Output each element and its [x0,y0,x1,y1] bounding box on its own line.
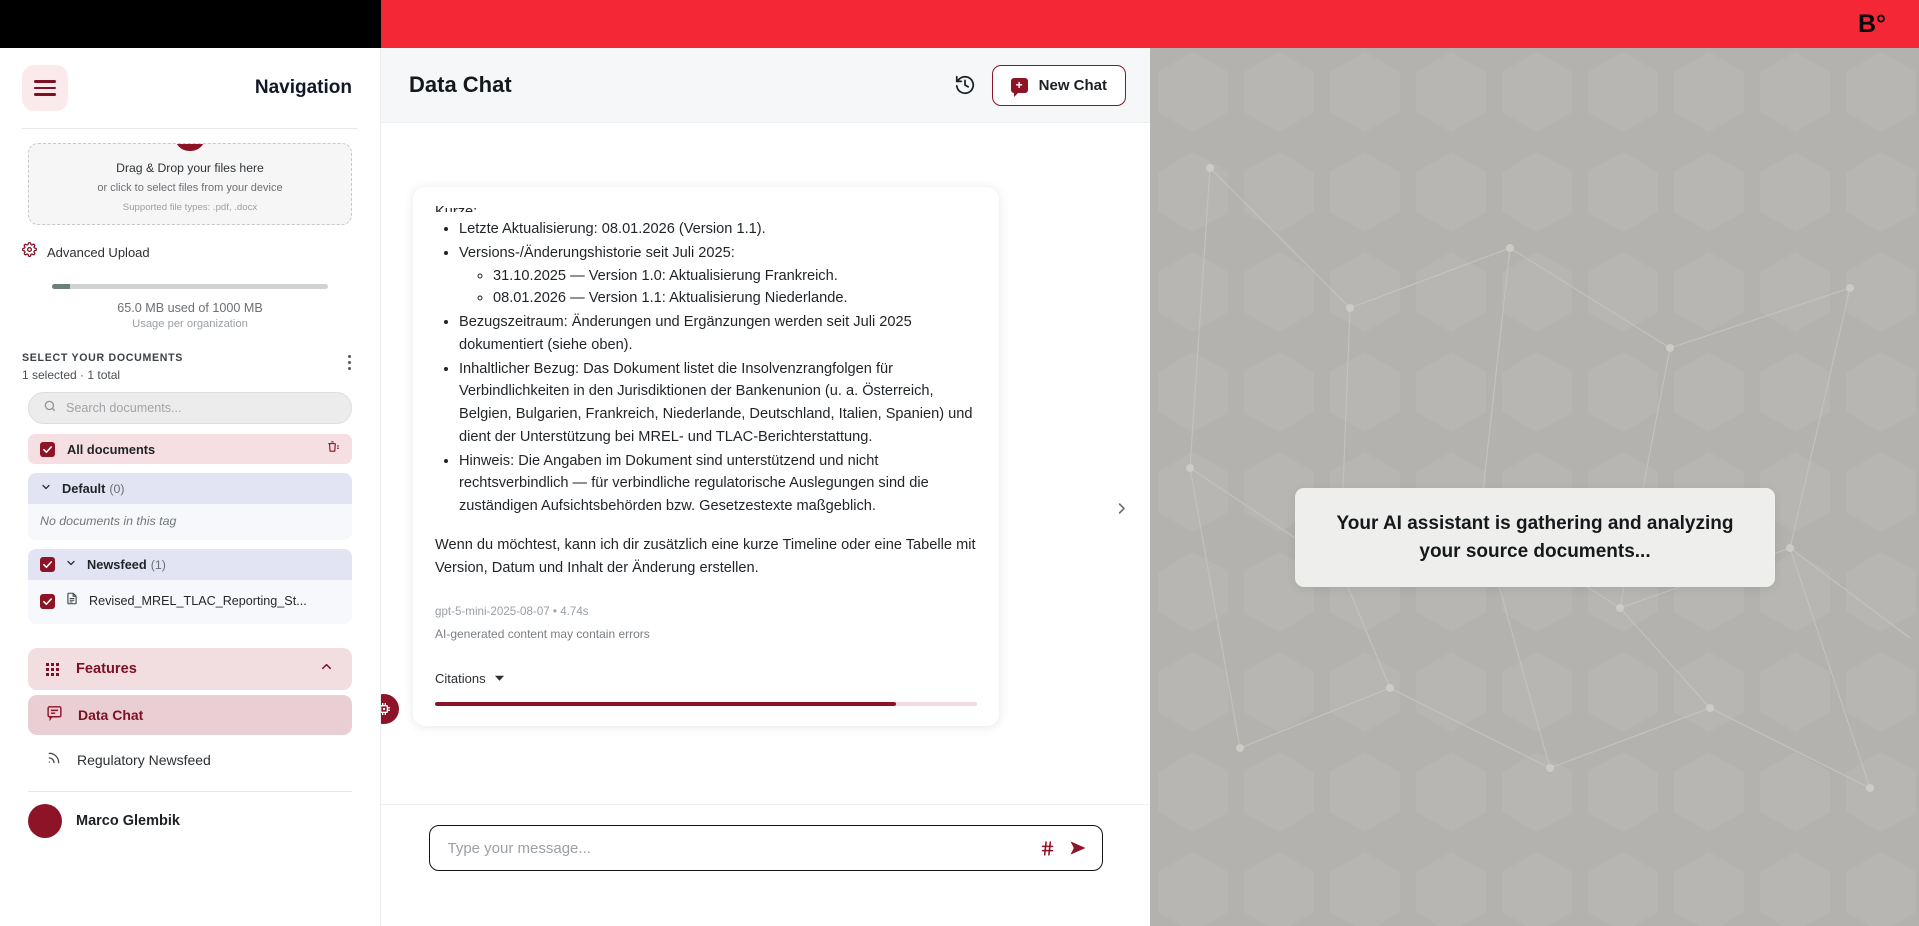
tag-empty-message: No documents in this tag [28,504,352,540]
main-header: Data Chat + New Chat [381,48,1150,123]
tag-group-newsfeed: Newsfeed (1) Revised_MREL_TLAC_Reporting… [28,549,352,624]
send-icon[interactable] [1068,838,1088,858]
tag-header-default[interactable]: Default (0) [28,473,352,504]
new-chat-icon: + [1011,78,1028,93]
composer-container [381,804,1150,926]
topbar-red-segment [381,0,1919,48]
user-name: Marco Glembik [76,813,180,829]
status-line-1: Your AI assistant is gathering and analy… [1337,513,1734,534]
all-documents-checkbox[interactable] [40,442,55,457]
sidebar-item-regulatory-newsfeed[interactable]: Regulatory Newsfeed [28,741,352,779]
gear-icon [22,242,37,262]
usage-progress-fill [52,284,70,289]
bullet-text: Versions-/Änderungshistorie seit Juli 20… [459,245,735,261]
dropzone-title: Drag & Drop your files here [116,161,264,175]
top-brand-bar: B° [0,0,1919,48]
generation-progress-fill [435,702,896,706]
usage-text: 65.0 MB used of 1000 MB [52,301,328,315]
more-options-icon[interactable] [340,352,358,372]
delete-icon[interactable] [326,439,340,459]
chevron-right-icon[interactable] [1110,497,1132,519]
message-bullet-list: Letzte Aktualisierung: 08.01.2026 (Versi… [441,218,977,518]
list-item: Versions-/Änderungshistorie seit Juli 20… [459,242,977,310]
sidebar-item-data-chat[interactable]: Data Chat [28,695,352,735]
features-label: Features [76,661,137,677]
all-documents-row[interactable]: All documents [28,434,352,464]
tag-header-newsfeed[interactable]: Newsfeed (1) [28,549,352,580]
message-sub-list: 31.10.2025 — Version 1.0: Aktualisierung… [475,265,977,311]
bullet-text: Letzte Aktualisierung: 08.01.2026 (Versi… [459,221,766,237]
storage-usage: 65.0 MB used of 1000 MB Usage per organi… [52,284,328,330]
sub-bullet-text: 08.01.2026 — Version 1.1: Aktualisierung… [493,290,848,306]
main-content: Data Chat + New Chat Kurze: Letzte Aktua… [381,48,1150,926]
document-checkbox[interactable] [40,594,55,609]
citations-label: Citations [435,671,486,686]
search-input[interactable] [66,401,337,415]
document-icon [65,591,79,611]
chevron-down-icon [494,669,505,687]
features-section-toggle[interactable]: Features [28,648,352,690]
usage-progress-bar [52,284,328,289]
chevron-up-icon [319,659,334,679]
list-item: Letzte Aktualisierung: 08.01.2026 (Versi… [459,218,977,241]
sidebar-scroll-area: Drag & Drop your files here or click to … [0,129,380,926]
file-dropzone[interactable]: Drag & Drop your files here or click to … [28,143,352,225]
hamburger-icon[interactable] [22,65,68,111]
status-line-2: your source documents... [1419,541,1650,562]
history-icon[interactable] [948,68,982,102]
sidebar-item-label: Data Chat [78,707,143,723]
status-card: Your AI assistant is gathering and analy… [1295,488,1775,587]
tag-count: (1) [151,558,166,572]
tag-name: Newsfeed [87,557,147,572]
topbar-black-segment [0,0,381,48]
message-truncated-line: Kurze: [435,201,977,212]
tag-count: (0) [109,482,124,496]
model-info: gpt-5-mini-2025-08-07 • 4.74s [435,605,977,618]
generation-progress-bar [435,702,977,706]
bullet-text: Bezugszeitraum: Änderungen und Ergänzung… [459,314,912,353]
list-item: 08.01.2026 — Version 1.1: Aktualisierung… [493,287,977,310]
nav-title: Navigation [255,77,352,99]
tag-name: Default [62,481,105,496]
new-chat-label: New Chat [1039,77,1107,94]
list-item: 31.10.2025 — Version 1.0: Aktualisierung… [493,265,977,288]
left-sidebar: Navigation Drag & Drop your files here o… [0,48,381,926]
message-input[interactable] [448,840,1027,857]
chat-scroll-area[interactable]: Kurze: Letzte Aktualisierung: 08.01.2026… [381,123,1150,926]
sidebar-footer-divider [28,791,352,792]
search-icon [43,399,57,418]
dropzone-filetypes: Supported file types: .pdf, .docx [123,202,257,213]
select-documents-title: SELECT YOUR DOCUMENTS [22,352,183,364]
upload-cloud-icon [175,143,205,151]
list-item: Bezugszeitraum: Änderungen und Ergänzung… [459,311,977,357]
rss-icon [46,750,62,771]
citations-toggle[interactable]: Citations [435,669,977,687]
message-composer[interactable] [429,825,1103,871]
dropzone-subtitle: or click to select files from your devic… [97,182,282,194]
cpu-chip-icon [381,694,399,724]
list-item[interactable]: Revised_MREL_TLAC_Reporting_St... [28,580,352,624]
chevron-down-icon [65,556,77,574]
all-documents-label: All documents [67,442,155,457]
right-preview-panel: Your AI assistant is gathering and analy… [1150,48,1919,926]
grid-icon [46,663,59,676]
sidebar-item-label: Regulatory Newsfeed [77,752,211,768]
status-text: Your AI assistant is gathering and analy… [1321,510,1749,565]
bullet-text: Inhaltlicher Bezug: Das Dokument listet … [459,361,973,445]
ai-disclaimer: AI-generated content may contain errors [435,627,977,641]
usage-subtext: Usage per organization [52,318,328,330]
brand-logo: B° [1849,8,1895,40]
list-item: Inhaltlicher Bezug: Das Dokument listet … [459,358,977,449]
search-documents-field[interactable] [28,392,352,424]
avatar [28,804,62,838]
documents-count: 1 selected · 1 total [22,368,183,382]
user-profile-row[interactable]: Marco Glembik [28,804,380,838]
message-outro: Wenn du möchtest, kann ich dir zusätzlic… [435,534,977,580]
select-documents-header: SELECT YOUR DOCUMENTS 1 selected · 1 tot… [22,352,358,382]
advanced-upload-label: Advanced Upload [47,245,150,260]
hash-icon[interactable] [1039,840,1056,857]
new-chat-button[interactable]: + New Chat [992,65,1126,106]
document-name: Revised_MREL_TLAC_Reporting_St... [89,594,307,608]
tag-checkbox[interactable] [40,557,55,572]
tag-group-default: Default (0) No documents in this tag [28,473,352,540]
page-title: Data Chat [409,72,948,98]
list-item: Hinweis: Die Angaben im Dokument sind un… [459,450,977,518]
hexagon-network-background [1150,48,1919,926]
chat-icon [46,704,63,726]
chevron-down-icon [40,480,52,498]
assistant-message-card: Kurze: Letzte Aktualisierung: 08.01.2026… [413,187,999,726]
sub-bullet-text: 31.10.2025 — Version 1.0: Aktualisierung… [493,268,838,284]
sidebar-header: Navigation [0,48,380,128]
advanced-upload-button[interactable]: Advanced Upload [22,242,380,262]
bullet-text: Hinweis: Die Angaben im Dokument sind un… [459,453,929,515]
